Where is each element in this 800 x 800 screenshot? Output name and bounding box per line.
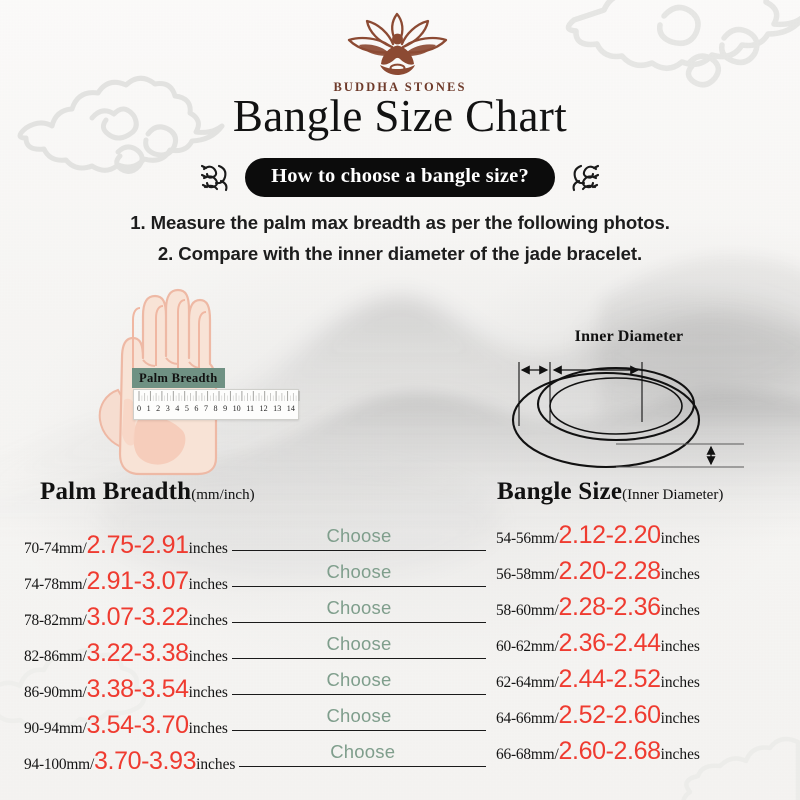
bangle-inch-value: 2.52-2.60 (559, 703, 661, 728)
choose-link[interactable]: Choose (232, 597, 486, 619)
choose-cell[interactable]: Choose (232, 631, 486, 661)
palm-unit-label: inches (189, 576, 228, 594)
instruction-line-1: 1. Measure the palm max breadth as per t… (0, 207, 800, 238)
choose-underline (232, 586, 486, 587)
swirl-ornament-icon (569, 161, 599, 195)
choose-cell[interactable]: Choose (232, 595, 486, 625)
swirl-ornament-icon (201, 161, 231, 195)
choose-link[interactable]: Choose (232, 633, 486, 655)
lotus-meditation-icon (335, 12, 465, 78)
palm-inch-value: 3.54-3.70 (87, 713, 189, 738)
page-title: Bangle Size Chart (0, 90, 800, 142)
choose-cell[interactable]: Choose (232, 703, 486, 733)
bangle-diameter-figure: Inner Diameter (498, 328, 760, 478)
palm-mm-value: 74-78mm/ (24, 576, 87, 594)
ruler-num: 5 (185, 404, 189, 413)
palm-inch-value: 3.70-3.93 (94, 749, 196, 774)
bangle-inch-value: 2.12-2.20 (559, 523, 661, 548)
ruler-num: 8 (214, 404, 218, 413)
bangle-inch-value: 2.20-2.28 (559, 559, 661, 584)
table-row: 64-66mm/ 2.52-2.60 inches (496, 703, 788, 739)
palm-inch-value: 2.91-3.07 (87, 569, 189, 594)
bangle-mm-value: 62-64mm/ (496, 674, 559, 692)
palm-inch-value: 3.07-3.22 (87, 605, 189, 630)
palm-mm-value: 70-74mm/ (24, 540, 87, 558)
table-row: 90-94mm/ 3.54-3.70 inches Choose (24, 703, 486, 739)
right-heading-sub: (Inner Diameter) (622, 487, 723, 503)
palm-unit-label: inches (189, 648, 228, 666)
instruction-line-2: 2. Compare with the inner diameter of th… (0, 238, 800, 269)
bangle-unit-label: inches (661, 530, 700, 548)
bangle-inch-value: 2.36-2.44 (559, 631, 661, 656)
palm-unit-label: inches (196, 756, 235, 774)
ruler-num: 1 (147, 404, 151, 413)
palm-inch-value: 2.75-2.91 (87, 533, 189, 558)
ruler-num: 10 (233, 404, 241, 413)
palm-mm-value: 94-100mm/ (24, 756, 94, 774)
brand-logo: BUDDHA STONES (0, 12, 800, 95)
palm-mm-value: 82-86mm/ (24, 648, 87, 666)
choose-link[interactable]: Choose (232, 525, 486, 547)
choose-underline (232, 730, 486, 731)
palm-breadth-table: 70-74mm/ 2.75-2.91 inches Choose 74-78mm… (24, 523, 486, 775)
choose-link[interactable]: Choose (239, 741, 486, 763)
ruler-numbers: 0 1 2 3 4 5 6 7 8 9 10 11 12 13 14 (137, 404, 295, 413)
ruler-icon: 0 1 2 3 4 5 6 7 8 9 10 11 12 13 14 (133, 389, 299, 420)
choose-underline (232, 550, 486, 551)
bangle-unit-label: inches (661, 602, 700, 620)
ruler-num: 12 (260, 404, 268, 413)
bangle-unit-label: inches (661, 566, 700, 584)
palm-inch-value: 3.38-3.54 (87, 677, 189, 702)
choose-underline (232, 694, 486, 695)
palm-unit-label: inches (189, 684, 228, 702)
size-chart-page: BUDDHA STONES Bangle Size Chart How to c… (0, 0, 800, 800)
bangle-unit-label: inches (661, 638, 700, 656)
bangle-mm-value: 56-58mm/ (496, 566, 559, 584)
choose-link[interactable]: Choose (232, 669, 486, 691)
palm-mm-value: 86-90mm/ (24, 684, 87, 702)
badge-row: How to choose a bangle size? (0, 158, 800, 197)
right-table-heading: Bangle Size(Inner Diameter) (497, 478, 723, 506)
table-row: 62-64mm/ 2.44-2.52 inches (496, 667, 788, 703)
ruler-num: 7 (204, 404, 208, 413)
table-row: 78-82mm/ 3.07-3.22 inches Choose (24, 595, 486, 631)
choose-cell[interactable]: Choose (232, 523, 486, 553)
how-to-choose-badge: How to choose a bangle size? (245, 158, 555, 197)
table-row: 56-58mm/ 2.20-2.28 inches (496, 559, 788, 595)
choose-cell[interactable]: Choose (239, 739, 486, 769)
bangle-unit-label: inches (661, 674, 700, 692)
bangle-mm-value: 66-68mm/ (496, 746, 559, 764)
left-table-heading: Palm Breadth(mm/inch) (40, 478, 255, 506)
right-heading-main: Bangle Size (497, 478, 622, 505)
palm-unit-label: inches (189, 720, 228, 738)
table-row: 94-100mm/ 3.70-3.93 inches Choose (24, 739, 486, 775)
ruler-num: 0 (137, 404, 141, 413)
table-row: 70-74mm/ 2.75-2.91 inches Choose (24, 523, 486, 559)
palm-inch-value: 3.22-3.38 (87, 641, 189, 666)
choose-cell[interactable]: Choose (232, 559, 486, 589)
choose-link[interactable]: Choose (232, 705, 486, 727)
left-heading-sub: (mm/inch) (191, 487, 254, 503)
choose-cell[interactable]: Choose (232, 667, 486, 697)
table-row: 86-90mm/ 3.38-3.54 inches Choose (24, 667, 486, 703)
palm-unit-label: inches (189, 612, 228, 630)
bangle-inch-value: 2.60-2.68 (559, 739, 661, 764)
table-row: 58-60mm/ 2.28-2.36 inches (496, 595, 788, 631)
ruler-num: 3 (166, 404, 170, 413)
palm-mm-value: 90-94mm/ (24, 720, 87, 738)
choose-underline (232, 622, 486, 623)
palm-unit-label: inches (189, 540, 228, 558)
instructions-list: 1. Measure the palm max breadth as per t… (0, 207, 800, 269)
bangle-mm-value: 60-62mm/ (496, 638, 559, 656)
bangle-mm-value: 64-66mm/ (496, 710, 559, 728)
bangle-inch-value: 2.28-2.36 (559, 595, 661, 620)
table-row: 60-62mm/ 2.36-2.44 inches (496, 631, 788, 667)
ruler-num: 2 (156, 404, 160, 413)
inner-diameter-title: Inner Diameter (498, 328, 760, 346)
palm-mm-value: 78-82mm/ (24, 612, 87, 630)
bangle-mm-value: 58-60mm/ (496, 602, 559, 620)
table-row: 82-86mm/ 3.22-3.38 inches Choose (24, 631, 486, 667)
bangle-mm-value: 54-56mm/ (496, 530, 559, 548)
palm-breadth-label: Palm Breadth (132, 368, 225, 388)
table-row: 66-68mm/ 2.60-2.68 inches (496, 739, 788, 775)
ruler-num: 11 (246, 404, 254, 413)
ruler-num: 4 (175, 404, 179, 413)
table-row: 74-78mm/ 2.91-3.07 inches Choose (24, 559, 486, 595)
choose-underline (232, 658, 486, 659)
choose-underline (239, 766, 486, 767)
bangle-unit-label: inches (661, 746, 700, 764)
ruler-num: 6 (194, 404, 198, 413)
bangle-inch-value: 2.44-2.52 (559, 667, 661, 692)
table-row: 54-56mm/ 2.12-2.20 inches (496, 523, 788, 559)
choose-link[interactable]: Choose (232, 561, 486, 583)
bangle-ring-icon (498, 348, 760, 480)
bangle-unit-label: inches (661, 710, 700, 728)
ruler-num: 9 (223, 404, 227, 413)
ruler-num: 14 (287, 404, 295, 413)
bangle-size-table: 54-56mm/ 2.12-2.20 inches 56-58mm/ 2.20-… (496, 523, 788, 775)
ruler-num: 13 (273, 404, 281, 413)
left-heading-main: Palm Breadth (40, 478, 191, 505)
